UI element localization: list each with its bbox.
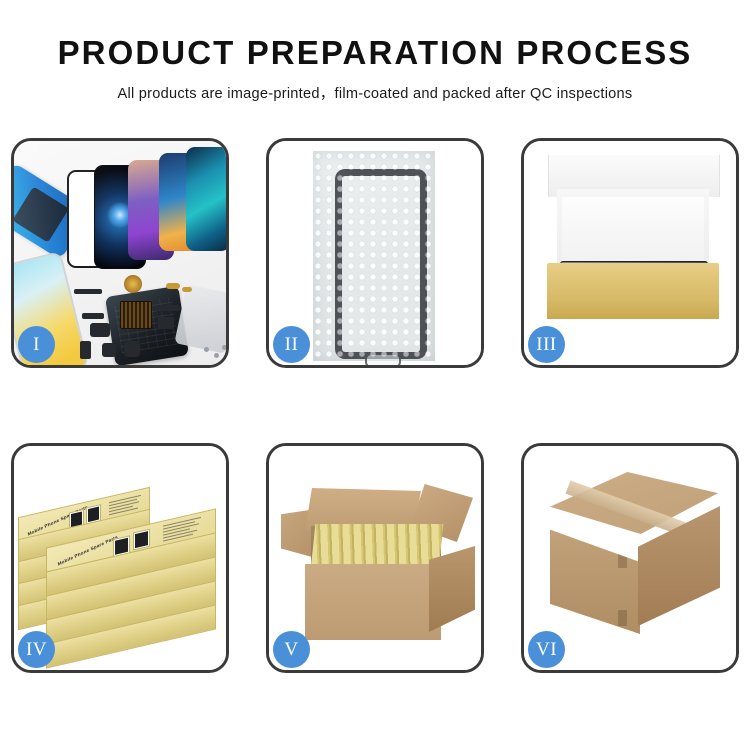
carton-hand-hole-icon bbox=[618, 610, 627, 626]
step-badge-3: III bbox=[528, 326, 565, 363]
screw-icon bbox=[214, 353, 219, 358]
carton-front-face bbox=[305, 564, 441, 640]
step-badge-2: II bbox=[273, 326, 310, 363]
process-step-3[interactable]: III bbox=[521, 138, 739, 368]
screw-icon bbox=[222, 345, 226, 350]
flex-cable-icon bbox=[74, 289, 102, 294]
carton-hand-hole-icon bbox=[618, 552, 627, 568]
wave-phone-icon bbox=[186, 147, 226, 251]
process-step-grid: I II III bbox=[11, 138, 739, 673]
sim-tray-icon bbox=[80, 341, 91, 359]
phone-screen-icon bbox=[335, 169, 427, 359]
process-step-5[interactable]: V bbox=[266, 443, 484, 673]
step-badge-6: VI bbox=[528, 631, 565, 668]
camera-module-icon bbox=[90, 323, 110, 337]
screw-icon bbox=[204, 347, 209, 352]
process-step-6[interactable]: VI bbox=[521, 443, 739, 673]
kraft-box-front-lip bbox=[547, 297, 719, 319]
carton-side-face bbox=[429, 546, 475, 632]
step-badge-5: V bbox=[273, 631, 310, 668]
gold-clip-icon bbox=[182, 287, 192, 292]
ribbon-cable-icon bbox=[82, 313, 104, 319]
bubble-wrap-sheet-icon bbox=[313, 151, 435, 361]
speaker-coil-icon bbox=[124, 275, 142, 293]
page-subtitle: All products are image-printed，film-coat… bbox=[0, 82, 750, 103]
gold-connector-icon bbox=[166, 283, 180, 289]
taptic-icon bbox=[124, 341, 140, 357]
step-badge-1: I bbox=[18, 326, 55, 363]
button-icon bbox=[102, 343, 116, 357]
product-preparation-infographic: PRODUCT PREPARATION PROCESS All products… bbox=[0, 0, 750, 750]
box-stack: Mobile Phone Spare Parts Mobile Phone Sp… bbox=[18, 468, 226, 658]
step-badge-4: IV bbox=[18, 631, 55, 668]
process-step-4[interactable]: Mobile Phone Spare Parts Mobile Phone Sp… bbox=[11, 443, 229, 673]
sealed-carton-front-face bbox=[550, 518, 640, 634]
antenna-strip-icon bbox=[156, 305, 180, 311]
spare-parts-cluster bbox=[74, 271, 226, 365]
process-step-2[interactable]: II bbox=[266, 138, 484, 368]
page-title: PRODUCT PREPARATION PROCESS bbox=[0, 36, 750, 71]
vibrator-icon bbox=[158, 317, 174, 329]
header: PRODUCT PREPARATION PROCESS All products… bbox=[0, 0, 750, 103]
chip-array-icon bbox=[120, 301, 152, 329]
foam-insert-icon bbox=[562, 197, 704, 265]
process-step-1[interactable]: I bbox=[11, 138, 229, 368]
